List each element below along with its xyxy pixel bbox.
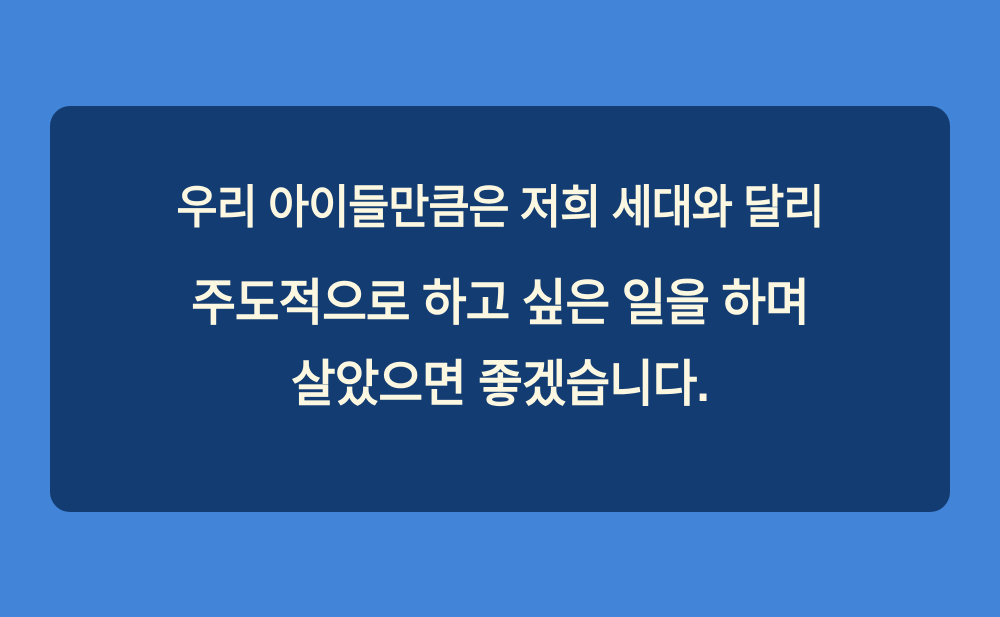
quote-line-2: 주도적으로 하고 싶은 일을 하며: [64, 278, 937, 328]
slide-canvas: 우리 아이들만큼은 저희 세대와 달리 주도적으로 하고 싶은 일을 하며 살았…: [0, 0, 1000, 617]
quote-line-1: 우리 아이들만큼은 저희 세대와 달리: [64, 184, 937, 230]
quote-line-3: 살았으면 좋겠습니다.: [64, 359, 937, 409]
quote-card: 우리 아이들만큼은 저희 세대와 달리 주도적으로 하고 싶은 일을 하며 살았…: [50, 106, 950, 512]
quote-text-block: 우리 아이들만큼은 저희 세대와 달리 주도적으로 하고 싶은 일을 하며 살았…: [50, 106, 950, 409]
